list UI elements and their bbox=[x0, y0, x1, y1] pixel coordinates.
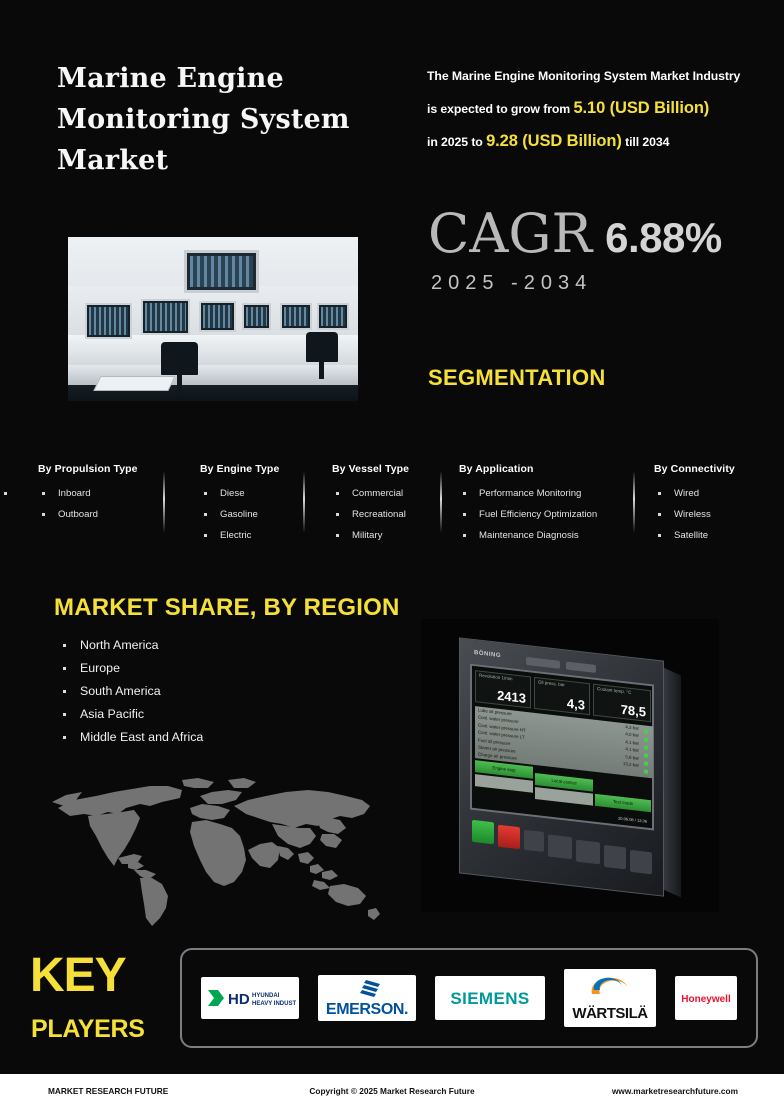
market-value-2025: 5.10 (USD Billion) bbox=[573, 99, 709, 117]
segment-item: Military bbox=[332, 525, 409, 546]
key-players-logo-strip: HD HYUNDAI HEAVY INDUSTRIES EMERSON. SIE… bbox=[180, 948, 758, 1048]
svg-text:HYUNDAI: HYUNDAI bbox=[252, 993, 280, 999]
segment-item: Wired bbox=[654, 483, 735, 504]
region-item: Middle East and Africa bbox=[58, 726, 203, 749]
logo-honeywell: Honeywell bbox=[675, 976, 737, 1020]
engine-control-room-photo bbox=[68, 237, 358, 401]
segment-item: Commercial bbox=[332, 483, 409, 504]
blurb-line-1: The Marine Engine Monitoring System Mark… bbox=[427, 69, 740, 83]
panel-timestamp: 20.06.08 / 12:36 bbox=[618, 815, 647, 823]
segment-item: Recreational bbox=[332, 504, 409, 525]
segment-item: Satellite bbox=[654, 525, 735, 546]
region-item: North America bbox=[58, 634, 203, 657]
panel-key-menu[interactable] bbox=[576, 840, 600, 865]
readout-label: Oil press. bar bbox=[538, 679, 565, 687]
readout-value: 4,3 bbox=[567, 696, 585, 713]
cagr-period: 2025 -2034 bbox=[431, 272, 722, 295]
stray-bullet-dot bbox=[4, 492, 7, 495]
svg-text:HEAVY INDUSTRIES: HEAVY INDUSTRIES bbox=[252, 1001, 296, 1007]
svg-text:WÄRTSILÄ: WÄRTSILÄ bbox=[572, 1005, 648, 1022]
svg-text:EMERSON.: EMERSON. bbox=[326, 1001, 408, 1017]
segment-title: By Connectivity bbox=[654, 463, 735, 475]
region-item: South America bbox=[58, 680, 203, 703]
region-item: Europe bbox=[58, 657, 203, 680]
segment-column-application: By Application Performance Monitoring Fu… bbox=[459, 463, 597, 546]
footer-brand: MARKET RESEARCH FUTURE bbox=[48, 1086, 168, 1096]
infographic-page: Marine Engine Monitoring System Market T… bbox=[0, 0, 784, 1108]
segment-title: By Application bbox=[459, 463, 597, 475]
panel-brand: BÖNING bbox=[474, 650, 501, 659]
panel-button[interactable]: Test mode bbox=[595, 794, 651, 812]
segment-column-vessel: By Vessel Type Commercial Recreational M… bbox=[332, 463, 409, 546]
readout-value: 78,5 bbox=[621, 702, 646, 720]
segment-item: Diese bbox=[200, 483, 279, 504]
market-share-heading: MARKET SHARE, BY REGION bbox=[54, 594, 400, 622]
readout-value: 2413 bbox=[497, 688, 526, 706]
marine-monitoring-panel-photo: BÖNING Revolution 1/min 2413 Oil press. … bbox=[421, 619, 719, 912]
segment-item: Fuel Efficiency Optimization bbox=[459, 504, 597, 525]
segmentation-heading: SEGMENTATION bbox=[428, 365, 606, 391]
key-players-heading-line1: KEY bbox=[30, 952, 126, 1000]
segmentation-columns: By Propulsion Type Inboard Outboard By E… bbox=[0, 463, 784, 553]
market-value-2034: 9.28 (USD Billion) bbox=[486, 132, 622, 150]
panel-screen: Revolution 1/min 2413 Oil press. bar 4,3… bbox=[470, 664, 654, 831]
segment-item: Electric bbox=[200, 525, 279, 546]
panel-key-green[interactable] bbox=[472, 820, 494, 845]
panel-key-down-arrow[interactable] bbox=[630, 850, 652, 875]
readout-label: Coolant temp. °C bbox=[597, 686, 631, 695]
segment-column-engine: By Engine Type Diese Gasoline Electric bbox=[200, 463, 279, 546]
segment-item: Maintenance Diagnosis bbox=[459, 525, 597, 546]
panel-key-up-arrow[interactable] bbox=[604, 845, 626, 870]
panel-key-mute[interactable] bbox=[548, 834, 572, 859]
cagr-value: 6.88% bbox=[605, 214, 722, 262]
logo-hd-hyundai: HD HYUNDAI HEAVY INDUSTRIES bbox=[201, 977, 299, 1019]
logo-wartsila: WÄRTSILÄ bbox=[564, 969, 656, 1027]
segment-item: Wireless bbox=[654, 504, 735, 525]
region-list: North America Europe South America Asia … bbox=[58, 634, 203, 749]
logo-emerson: EMERSON. bbox=[318, 975, 416, 1021]
region-item: Asia Pacific bbox=[58, 703, 203, 726]
market-value-statement: The Marine Engine Monitoring System Mark… bbox=[427, 60, 777, 158]
segment-item: Performance Monitoring bbox=[459, 483, 597, 504]
logo-siemens: SIEMENS bbox=[435, 976, 545, 1020]
segment-item: Outboard bbox=[38, 504, 138, 525]
segment-item: Gasoline bbox=[200, 504, 279, 525]
footer-website[interactable]: www.marketresearchfuture.com bbox=[612, 1086, 738, 1096]
segment-title: By Vessel Type bbox=[332, 463, 409, 475]
footer-copyright: Copyright © 2025 Market Research Future bbox=[309, 1086, 474, 1096]
segment-title: By Engine Type bbox=[200, 463, 279, 475]
cagr-block: CAGR 6.88% 2025 -2034 bbox=[428, 205, 722, 295]
segment-item: Inboard bbox=[38, 483, 138, 504]
blurb-line-3-prefix: in 2025 to bbox=[427, 135, 483, 149]
segment-column-propulsion: By Propulsion Type Inboard Outboard bbox=[38, 463, 138, 525]
key-players-heading-line2: PLAYERS bbox=[31, 1015, 145, 1044]
blurb-line-2-prefix: is expected to grow from bbox=[427, 102, 570, 116]
segment-column-connectivity: By Connectivity Wired Wireless Satellite bbox=[654, 463, 735, 546]
svg-text:HD: HD bbox=[228, 991, 250, 1008]
svg-text:SIEMENS: SIEMENS bbox=[450, 989, 529, 1008]
world-map bbox=[22, 762, 388, 930]
panel-key-red[interactable] bbox=[498, 825, 520, 850]
page-footer: MARKET RESEARCH FUTURE Copyright © 2025 … bbox=[0, 1074, 784, 1108]
segment-title: By Propulsion Type bbox=[38, 463, 138, 475]
page-title: Marine Engine Monitoring System Market bbox=[57, 58, 387, 181]
cagr-label: CAGR bbox=[428, 205, 592, 263]
blurb-line-3-suffix: till 2034 bbox=[625, 135, 669, 149]
svg-text:Honeywell: Honeywell bbox=[681, 994, 731, 1005]
panel-key-reset[interactable] bbox=[524, 830, 544, 852]
readout-label: Revolution 1/min bbox=[479, 673, 513, 682]
